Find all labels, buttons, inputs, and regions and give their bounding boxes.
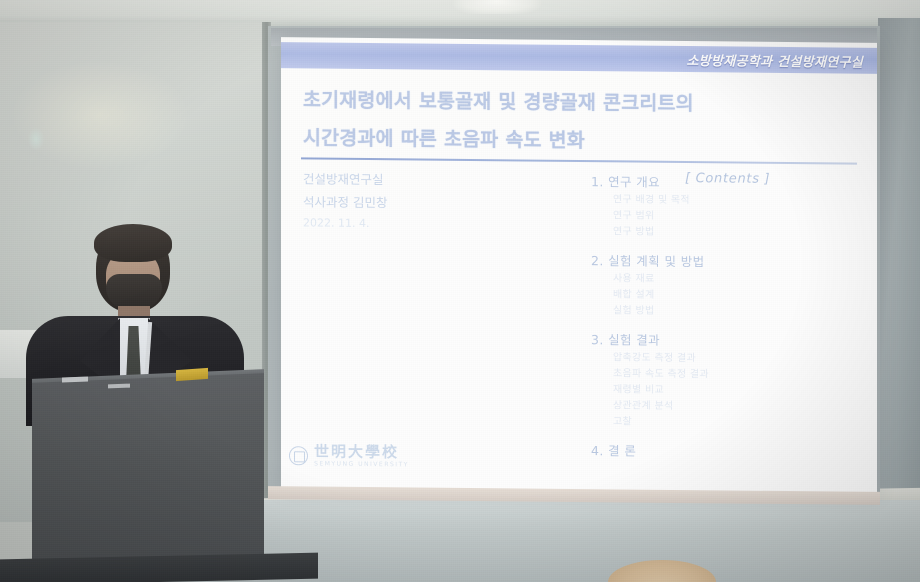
- wall-reflection-spot: [28, 128, 44, 150]
- slide-banner: 소방방재공학과 건설방재연구실: [281, 42, 877, 74]
- contents-list: 1. 연구 개요 연구 배경 및 목적 연구 범위 연구 방법 2. 실험 계획…: [591, 172, 841, 463]
- podium-note-paper: [176, 368, 208, 381]
- podium-label-tag-secondary: [108, 384, 130, 389]
- slide-title: 초기재령에서 보통골재 및 경량골재 콘크리트의 시간경과에 따른 초음파 속도…: [303, 81, 863, 162]
- toc-num: 2.: [591, 253, 604, 268]
- toc-item: 3. 실험 결과: [591, 330, 841, 352]
- university-logo: 世明大學校 SEMYUNG UNIVERSITY: [289, 444, 409, 468]
- university-name-en: SEMYUNG UNIVERSITY: [314, 461, 409, 468]
- toc-label: 연구 개요: [608, 174, 660, 189]
- affiliation-presenter: 석사과정 김민창: [303, 190, 387, 214]
- toc-sub: 고찰: [591, 414, 841, 432]
- toc-item: 2. 실험 계획 및 방법: [591, 251, 841, 273]
- podium-label-tag: [62, 377, 88, 383]
- presenter-hair: [94, 224, 172, 262]
- affiliation-lab: 건설방재연구실: [303, 167, 387, 191]
- toc-num: 3.: [591, 332, 604, 347]
- podium: [32, 373, 264, 582]
- toc-sub: 실험 방법: [591, 303, 841, 321]
- university-seal-icon: [289, 446, 308, 465]
- toc-label: 실험 계획 및 방법: [608, 253, 704, 269]
- presentation-photo: 소방방재공학과 건설방재연구실 초기재령에서 보통골재 및 경량골재 콘크리트의…: [0, 0, 920, 582]
- toc-item: 1. 연구 개요: [591, 172, 841, 194]
- projection-screen: 소방방재공학과 건설방재연구실 초기재령에서 보통골재 및 경량골재 콘크리트의…: [281, 37, 877, 495]
- affiliation-date: 2022. 11. 4.: [303, 214, 387, 235]
- slide: 소방방재공학과 건설방재연구실 초기재령에서 보통골재 및 경량골재 콘크리트의…: [281, 37, 877, 495]
- toc-sub: 연구 방법: [591, 224, 841, 242]
- slide-banner-text: 소방방재공학과 건설방재연구실: [687, 50, 863, 71]
- face-mask-icon: [106, 274, 162, 310]
- toc-label: 결 론: [608, 443, 636, 458]
- toc-num: 4.: [591, 443, 604, 458]
- toc-num: 1.: [591, 174, 604, 189]
- wall-light-glow: [10, 60, 190, 170]
- slide-title-line2: 시간경과에 따른 초음파 속도 변화: [303, 119, 863, 162]
- university-name-cn: 世明大學校: [314, 444, 409, 460]
- affiliation-block: 건설방재연구실 석사과정 김민창 2022. 11. 4.: [303, 167, 387, 234]
- toc-item: 4. 결 론: [591, 441, 841, 463]
- toc-label: 실험 결과: [608, 332, 660, 347]
- slide-title-line1: 초기재령에서 보통골재 및 경량골재 콘크리트의: [303, 88, 694, 115]
- right-wall: [878, 18, 920, 518]
- ceiling-light-icon: [452, 0, 542, 14]
